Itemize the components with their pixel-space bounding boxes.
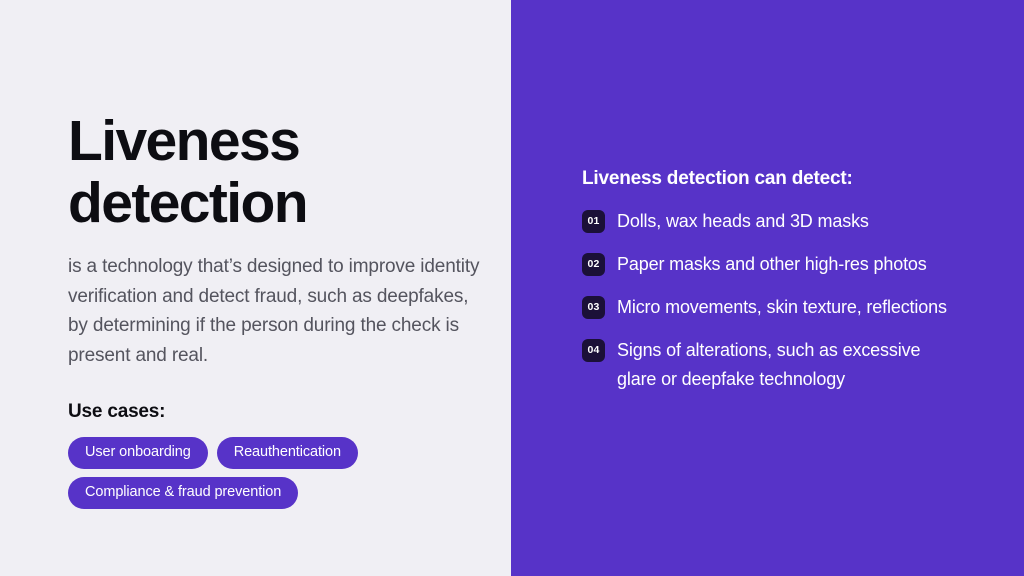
list-number-badge: 04 bbox=[582, 339, 605, 362]
use-case-pill[interactable]: User onboarding bbox=[68, 437, 208, 469]
use-case-pill[interactable]: Compliance & fraud prevention bbox=[68, 477, 298, 509]
slide-root: Liveness detection is a technology that’… bbox=[0, 0, 1024, 576]
use-cases-heading: Use cases: bbox=[68, 399, 165, 425]
list-item-label: Signs of alterations, such as excessive … bbox=[617, 336, 947, 394]
list-item-label: Micro movements, skin texture, reflectio… bbox=[617, 293, 947, 322]
use-case-pill-list: User onboarding Reauthentication Complia… bbox=[68, 437, 468, 509]
use-case-pill[interactable]: Reauthentication bbox=[217, 437, 358, 469]
detection-list: 01 Dolls, wax heads and 3D masks 02 Pape… bbox=[582, 207, 982, 408]
list-item-label: Paper masks and other high-res photos bbox=[617, 250, 927, 279]
list-number-badge: 02 bbox=[582, 253, 605, 276]
list-number-badge: 03 bbox=[582, 296, 605, 319]
list-item: 04 Signs of alterations, such as excessi… bbox=[582, 336, 982, 394]
left-panel: Liveness detection is a technology that’… bbox=[0, 0, 511, 576]
page-title: Liveness detection bbox=[68, 110, 307, 234]
list-item: 01 Dolls, wax heads and 3D masks bbox=[582, 207, 982, 236]
list-item: 02 Paper masks and other high-res photos bbox=[582, 250, 982, 279]
intro-paragraph: is a technology that’s designed to impro… bbox=[68, 252, 488, 370]
detection-list-heading: Liveness detection can detect: bbox=[582, 166, 853, 192]
right-panel: Liveness detection can detect: 01 Dolls,… bbox=[511, 0, 1024, 576]
list-item: 03 Micro movements, skin texture, reflec… bbox=[582, 293, 982, 322]
list-number-badge: 01 bbox=[582, 210, 605, 233]
list-item-label: Dolls, wax heads and 3D masks bbox=[617, 207, 869, 236]
